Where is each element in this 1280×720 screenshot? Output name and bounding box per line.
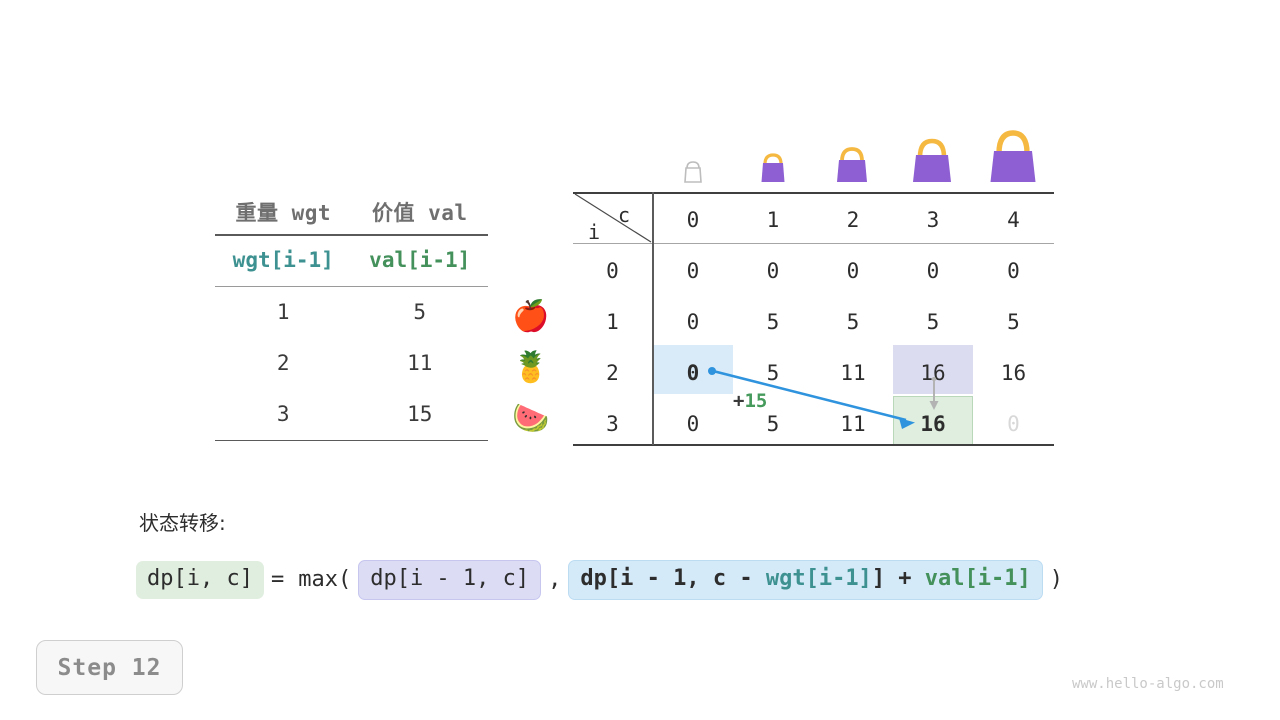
bag-capacity-0-icon <box>681 158 705 184</box>
items-table-rule-bottom <box>215 440 488 442</box>
formula-option-take: dp[i - 1, c - wgt[i-1]] + val[i-1] <box>568 560 1042 600</box>
watermelon-icon: 🍉 <box>512 404 549 434</box>
formula-option-skip: dp[i - 1, c] <box>358 560 541 600</box>
dp-cell-3-4: 0 <box>973 414 1054 435</box>
dp-col-header-1: 1 <box>733 210 813 231</box>
item-2-weight: 2 <box>215 353 352 374</box>
items-table-subheader-val: val[i-1] <box>352 250 489 271</box>
apple-icon: 🍎 <box>512 302 549 332</box>
dp-cell-0-3: 0 <box>893 261 973 282</box>
table-row: 2 11 <box>215 338 488 389</box>
bag-capacity-1-icon <box>756 149 790 185</box>
watermark: www.hello-algo.com <box>1072 676 1224 692</box>
item-3-value: 15 <box>352 404 489 425</box>
items-table-header-weight: 重量 wgt <box>215 203 352 224</box>
pineapple-icon: 🍍 <box>512 353 549 383</box>
dp-cell-0-0: 0 <box>653 261 733 282</box>
formula-comma: , <box>541 569 568 591</box>
items-table-header-row: 重量 wgt 价值 val <box>215 192 488 234</box>
item-1-weight: 1 <box>215 302 352 323</box>
dp-cell-1-0: 0 <box>653 312 733 333</box>
bag-capacity-3-icon <box>906 133 958 186</box>
dp-cell-1-1: 5 <box>733 312 813 333</box>
status-badge: Step 12 <box>36 640 183 695</box>
dp-row-header-0: 0 <box>573 261 652 282</box>
state-transition-formula: dp[i, c] = max( dp[i - 1, c] , dp[i - 1,… <box>136 560 1070 600</box>
dp-cell-0-1: 0 <box>733 261 813 282</box>
state-transition-label: 状态转移: <box>139 507 226 536</box>
table-row: 3 15 <box>215 389 488 440</box>
dp-corner-diagonal-icon <box>573 192 653 244</box>
formula-take-val: val[i-1] <box>925 566 1031 591</box>
inherit-arrow-icon <box>927 377 941 413</box>
items-table-header-value: 价值 val <box>352 203 489 224</box>
bag-capacity-4-icon <box>982 124 1044 186</box>
item-2-value: 11 <box>352 353 489 374</box>
dp-table: 0 1 2 3 4 0 1 2 3 0 0 0 0 0 0 5 5 5 5 0 … <box>573 192 1054 446</box>
item-3-weight: 3 <box>215 404 352 425</box>
items-table: 重量 wgt 价值 val wgt[i-1] val[i-1] 1 5 2 11… <box>215 192 488 441</box>
dp-corner-label-c: c <box>618 203 630 227</box>
dp-cell-1-3: 5 <box>893 312 973 333</box>
formula-close: ) <box>1043 569 1070 591</box>
dp-col-header-2: 2 <box>813 210 893 231</box>
dp-col-header-4: 4 <box>973 210 1054 231</box>
dp-cell-1-4: 5 <box>973 312 1054 333</box>
formula-take-mid: ] + <box>872 566 925 591</box>
dp-rule-bottom <box>573 444 1054 446</box>
value-added-annotation: +15 <box>733 392 767 411</box>
dp-cell-0-4: 0 <box>973 261 1054 282</box>
bag-capacity-2-icon <box>831 142 873 186</box>
formula-equals: = <box>264 569 291 591</box>
formula-target: dp[i, c] <box>136 561 264 599</box>
dp-col-header-3: 3 <box>893 210 973 231</box>
dp-cell-1-2: 5 <box>813 312 893 333</box>
value-added-sign: + <box>733 390 744 412</box>
value-added-number: 15 <box>744 390 767 412</box>
items-table-subheader-wgt: wgt[i-1] <box>215 250 352 271</box>
dp-row-header-1: 1 <box>573 312 652 333</box>
items-table-subheader-row: wgt[i-1] val[i-1] <box>215 236 488 286</box>
illustration-canvas: 重量 wgt 价值 val wgt[i-1] val[i-1] 1 5 2 11… <box>0 0 1280 720</box>
dp-corner-label-i: i <box>588 220 600 244</box>
formula-take-wgt: wgt[i-1] <box>766 566 872 591</box>
dp-col-header-0: 0 <box>653 210 733 231</box>
formula-max-open: max( <box>291 569 358 591</box>
dp-cell-0-2: 0 <box>813 261 893 282</box>
dp-cell-2-4: 16 <box>973 363 1054 384</box>
table-row: 1 5 <box>215 287 488 338</box>
dp-row-header-2: 2 <box>573 363 652 384</box>
formula-take-prefix: dp[i - 1, c - <box>580 566 765 591</box>
dp-row-header-3: 3 <box>573 414 652 435</box>
item-1-value: 5 <box>352 302 489 323</box>
